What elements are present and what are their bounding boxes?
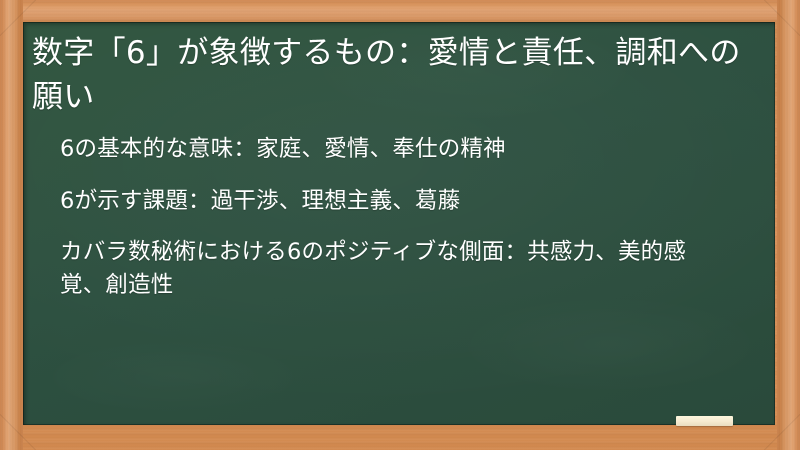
wood-frame-right-stile xyxy=(777,0,800,450)
bullet-item: カバラ数秘術における6のポジティブな側面：共感力、美的感覚、創造性 xyxy=(60,236,708,301)
slide-title: 数字「6」が象徴するもの：愛情と責任、調和への願い xyxy=(32,31,753,119)
chalkboard-slide: 数字「6」が象徴するもの：愛情と責任、調和への願い 6の基本的な意味：家庭、愛情… xyxy=(0,0,800,450)
chalkboard-surface: 数字「6」が象徴するもの：愛情と責任、調和への願い 6の基本的な意味：家庭、愛情… xyxy=(23,22,775,425)
wood-frame-left-stile xyxy=(0,0,23,450)
bullet-item: 6の基本的な意味：家庭、愛情、奉仕の精神 xyxy=(60,133,708,166)
chalk-stick-icon xyxy=(676,416,733,426)
slide-content: 数字「6」が象徴するもの：愛情と責任、調和への願い 6の基本的な意味：家庭、愛情… xyxy=(23,22,775,425)
bullet-list: 6の基本的な意味：家庭、愛情、奉仕の精神 6が示す課題：過干渉、理想主義、葛藤 … xyxy=(32,133,753,302)
bullet-item: 6が示す課題：過干渉、理想主義、葛藤 xyxy=(60,185,708,218)
